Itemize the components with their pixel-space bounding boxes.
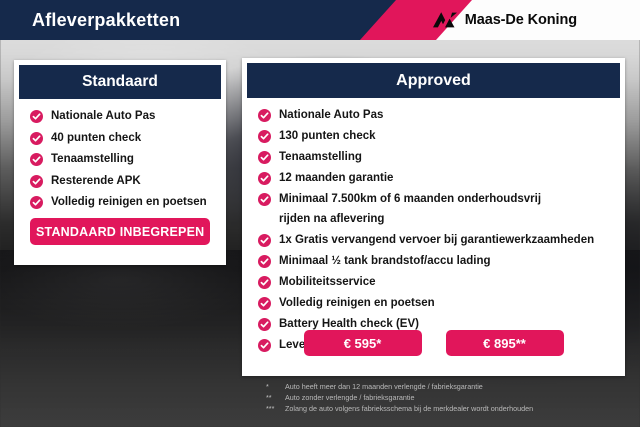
page-header: Afleverpakketten Maas-De Koning	[0, 0, 640, 40]
feature-label-multiline: Minimaal 7.500km of 6 maanden onderhouds…	[279, 193, 541, 226]
list-item: Tenaamstelling	[30, 153, 226, 166]
footnotes: * Auto heeft meer dan 12 maanden verleng…	[266, 381, 636, 414]
footnote-marker: **	[266, 392, 285, 403]
check-circle-icon	[258, 297, 271, 310]
check-circle-icon	[258, 109, 271, 122]
list-item: 130 punten check	[258, 130, 625, 143]
card-title-standaard: Standaard	[19, 65, 221, 99]
check-circle-icon	[258, 172, 271, 185]
footnote-row: * Auto heeft meer dan 12 maanden verleng…	[266, 381, 636, 392]
feature-label-line2: rijden na aflevering	[279, 213, 541, 226]
list-item: 12 maanden garantie	[258, 172, 625, 185]
footnote-text: Zolang de auto volgens fabrieksschema bi…	[285, 403, 636, 414]
footnote-row: ** Auto zonder verlengde / fabrieksgaran…	[266, 392, 636, 403]
feature-label: 130 punten check	[279, 130, 376, 143]
page-title: Afleverpakketten	[32, 0, 180, 40]
check-circle-icon	[258, 276, 271, 289]
brand-logo: Maas-De Koning	[432, 0, 577, 40]
feature-label: Nationale Auto Pas	[279, 109, 383, 122]
feature-label: Mobiliteitsservice	[279, 276, 376, 289]
list-item: Nationale Auto Pas	[258, 109, 625, 122]
check-circle-icon	[258, 255, 271, 268]
card-title-approved: Approved	[247, 63, 620, 98]
feature-list-approved: Nationale Auto Pas 130 punten check Tena…	[242, 98, 625, 352]
list-item: Tenaamstelling	[258, 151, 625, 164]
feature-label: Tenaamstelling	[279, 151, 362, 164]
promo-page: Afleverpakketten Maas-De Koning Standaar…	[0, 0, 640, 427]
brand-name: Maas-De Koning	[465, 12, 577, 28]
price-button-895[interactable]: € 895**	[446, 330, 564, 356]
check-circle-icon	[258, 151, 271, 164]
price-button-row: € 595* € 895**	[242, 330, 625, 356]
footnote-row: *** Zolang de auto volgens fabrieksschem…	[266, 403, 636, 414]
list-item: Volledig reinigen en poetsen	[258, 297, 625, 310]
standaard-included-button[interactable]: STANDAARD INBEGREPEN	[30, 218, 210, 245]
check-circle-icon	[30, 153, 43, 166]
footnote-text: Auto heeft meer dan 12 maanden verlengde…	[285, 381, 636, 392]
list-item: Mobiliteitsservice	[258, 276, 625, 289]
package-card-standaard: Standaard Nationale Auto Pas 40 punten c…	[14, 60, 226, 265]
list-item: 40 punten check	[30, 132, 226, 145]
feature-list-standaard: Nationale Auto Pas 40 punten check Tenaa…	[14, 99, 226, 209]
check-circle-icon	[258, 130, 271, 143]
feature-label: Volledig reinigen en poetsen	[279, 297, 435, 310]
list-item: Volledig reinigen en poetsen	[30, 196, 226, 209]
list-item: Minimaal ½ tank brandstof/accu lading	[258, 255, 625, 268]
feature-label: Volledig reinigen en poetsen	[51, 196, 207, 209]
list-item: Minimaal 7.500km of 6 maanden onderhouds…	[258, 193, 625, 226]
feature-label-line1: Minimaal 7.500km of 6 maanden onderhouds…	[279, 193, 541, 205]
price-button-595[interactable]: € 595*	[304, 330, 422, 356]
list-item: Resterende APK	[30, 175, 226, 188]
maas-de-koning-logo-icon	[432, 11, 458, 29]
check-circle-icon	[30, 196, 43, 209]
check-circle-icon	[258, 193, 271, 206]
check-circle-icon	[30, 110, 43, 123]
footnote-marker: ***	[266, 403, 285, 414]
feature-label: Resterende APK	[51, 175, 141, 188]
footnote-text: Auto zonder verlengde / fabrieksgarantie	[285, 392, 636, 403]
check-circle-icon	[30, 132, 43, 145]
package-card-approved: Approved Nationale Auto Pas 130 punten c…	[242, 58, 625, 376]
feature-label: 1x Gratis vervangend vervoer bij garanti…	[279, 234, 594, 247]
feature-label: Minimaal ½ tank brandstof/accu lading	[279, 255, 491, 268]
feature-label: 12 maanden garantie	[279, 172, 393, 185]
footnote-marker: *	[266, 381, 285, 392]
check-circle-icon	[30, 175, 43, 188]
check-circle-icon	[258, 234, 271, 247]
feature-label: Tenaamstelling	[51, 153, 134, 166]
list-item: Nationale Auto Pas	[30, 110, 226, 123]
list-item: 1x Gratis vervangend vervoer bij garanti…	[258, 234, 625, 247]
feature-label: Nationale Auto Pas	[51, 110, 155, 123]
feature-label: 40 punten check	[51, 132, 141, 145]
